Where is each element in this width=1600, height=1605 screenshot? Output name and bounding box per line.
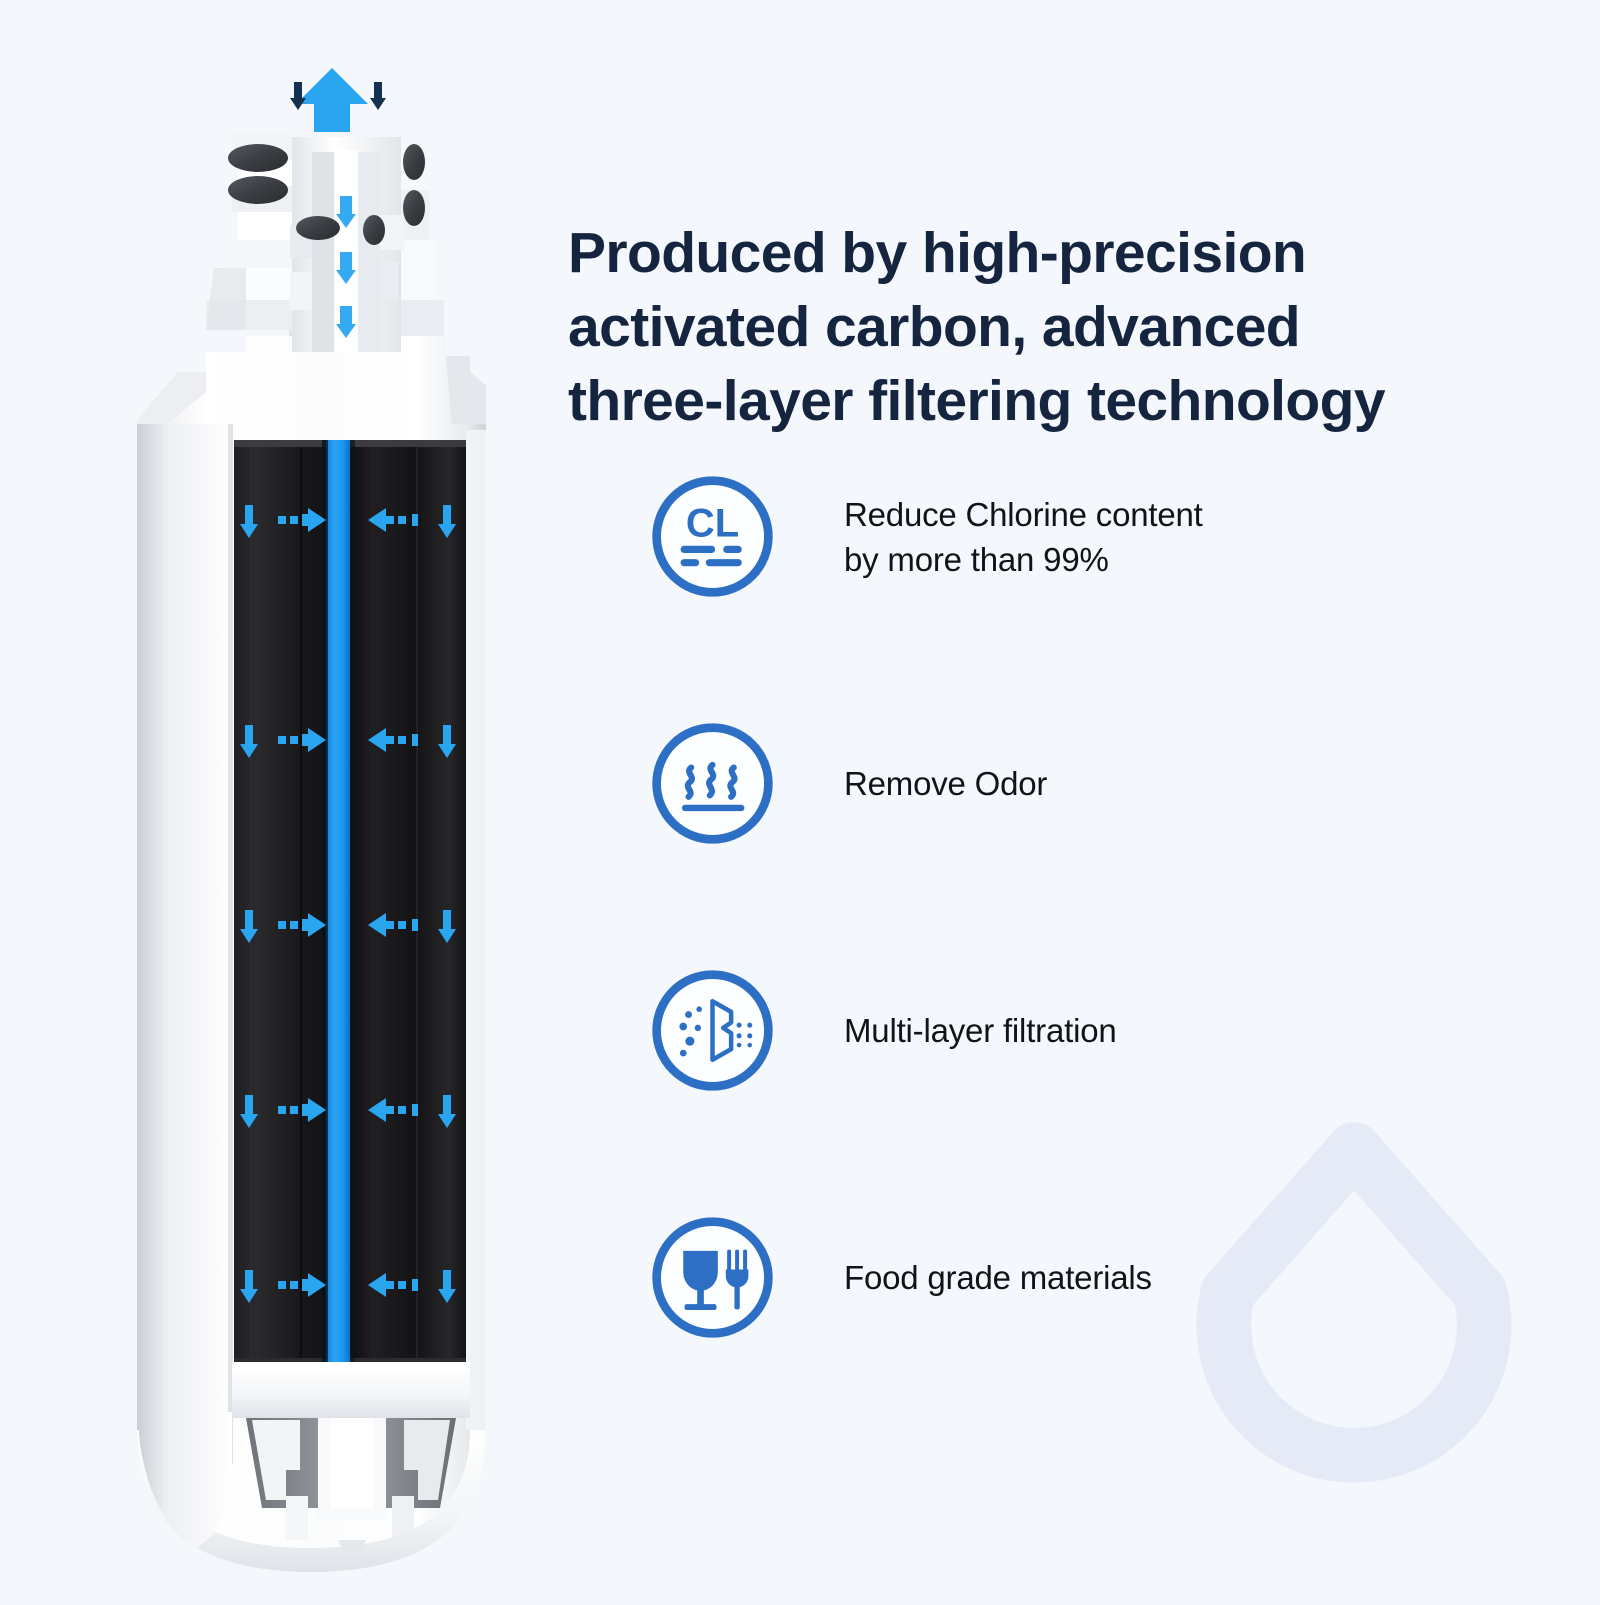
inlet-flow-arrow-down-left bbox=[290, 82, 306, 110]
feature-row-odor: Remove Odor bbox=[646, 717, 1546, 964]
feature-label-line-1: Reduce Chlorine content bbox=[844, 492, 1203, 537]
page-title: Produced by high-precision activated car… bbox=[568, 216, 1528, 438]
feature-label-line-1: Remove Odor bbox=[844, 761, 1047, 806]
activated-carbon-core bbox=[234, 440, 466, 1365]
feature-row-foodgrade: Food grade materials bbox=[646, 1211, 1546, 1458]
center-water-channel bbox=[326, 440, 350, 1365]
food-grade-goblet-fork-icon bbox=[646, 1211, 779, 1344]
multi-layer-filter-icon bbox=[646, 964, 779, 1097]
feature-label-chlorine: Reduce Chlorine content by more than 99% bbox=[844, 470, 1484, 603]
odor-steam-icon bbox=[646, 717, 779, 850]
filter-cap-assembly bbox=[206, 133, 444, 355]
feature-row-multilayer: Multi-layer filtration bbox=[646, 964, 1546, 1211]
feature-label-foodgrade: Food grade materials bbox=[844, 1211, 1484, 1344]
chlorine-cl-icon: CL bbox=[646, 470, 779, 603]
cl-label: CL bbox=[686, 502, 739, 546]
refrigerator-water-filter-cutaway bbox=[0, 0, 620, 1600]
headline-line-1: Produced by high-precision bbox=[568, 216, 1528, 290]
infographic-canvas: Produced by high-precision activated car… bbox=[0, 0, 1600, 1600]
content-column: Produced by high-precision activated car… bbox=[560, 0, 1560, 1600]
feature-label-odor: Remove Odor bbox=[844, 717, 1484, 850]
feature-label-line-1: Food grade materials bbox=[844, 1255, 1152, 1300]
headline-line-2: activated carbon, advanced bbox=[568, 290, 1528, 364]
feature-row-chlorine: CL Reduce Chlorine content by more than … bbox=[646, 470, 1546, 717]
feature-label-line-1: Multi-layer filtration bbox=[844, 1008, 1117, 1053]
feature-label-line-2: by more than 99% bbox=[844, 537, 1203, 582]
feature-label-multilayer: Multi-layer filtration bbox=[844, 964, 1484, 1097]
inlet-flow-arrow-down-right bbox=[370, 82, 386, 110]
feature-list: CL Reduce Chlorine content by more than … bbox=[646, 470, 1546, 1458]
headline-line-3: three-layer filtering technology bbox=[568, 364, 1528, 438]
outlet-flow-arrow-up bbox=[296, 68, 368, 132]
